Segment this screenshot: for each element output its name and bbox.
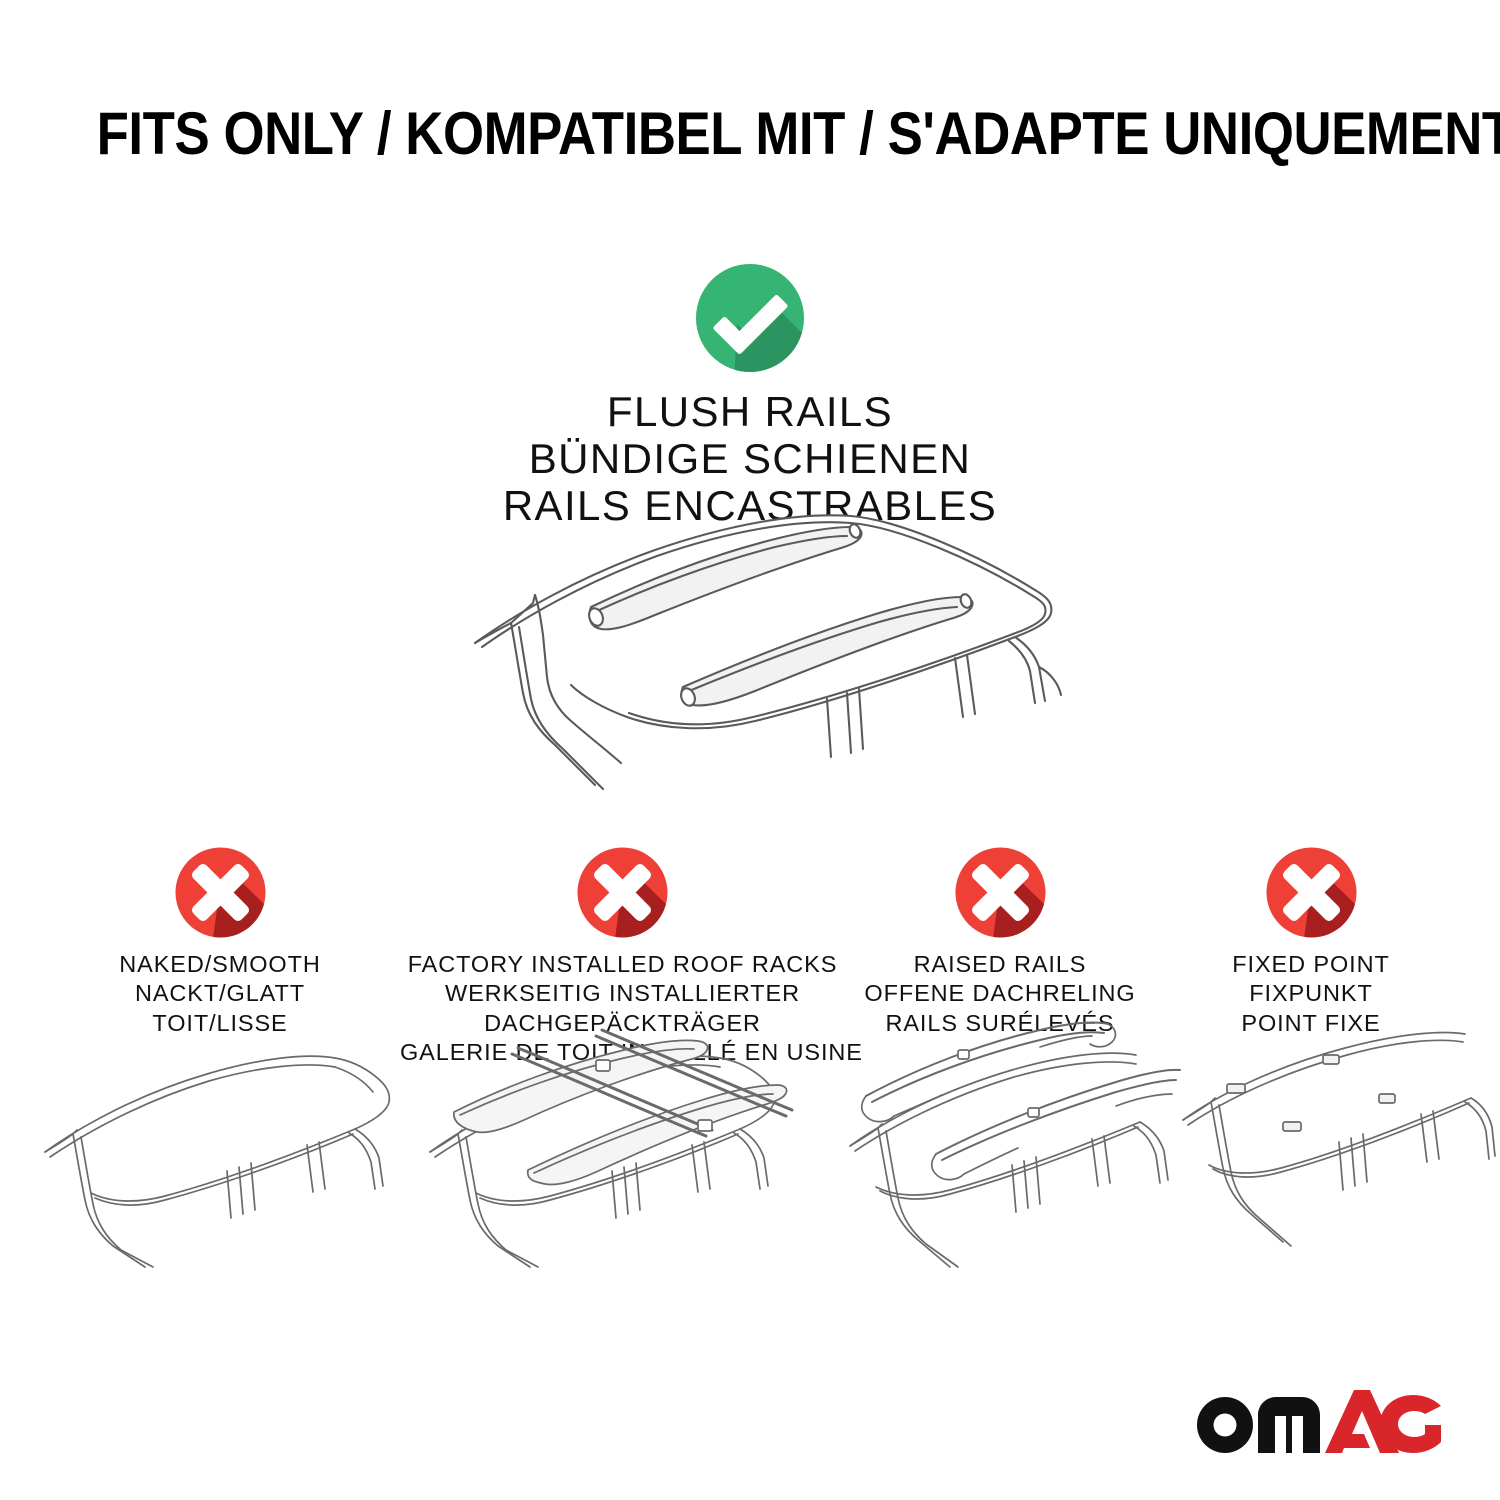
reject-label-line-en: RAISED RAILS <box>830 950 1170 979</box>
reject-label-line-de-2: DACHGEPÄCKTRÄGER <box>400 1009 845 1038</box>
car-roof-fixed-point-illustration <box>1175 1052 1447 1267</box>
reject-label-line-fr: RAILS SURÉLEVÉS <box>830 1009 1170 1038</box>
car-roof-bare-illustration <box>35 1052 405 1267</box>
reject-label-fixed-point: FIXED POINT FIXPUNKT POINT FIXE <box>1175 950 1447 1038</box>
reject-item-fixed-point: FIXED POINT FIXPUNKT POINT FIXE <box>1175 846 1447 1038</box>
reject-label-line-fr: TOIT/LISSE <box>35 1009 405 1038</box>
page-title: FITS ONLY / KOMPATIBEL MIT / S'ADAPTE UN… <box>0 104 1500 164</box>
reject-label-naked-smooth: NAKED/SMOOTH NACKT/GLATT TOIT/LISSE <box>35 950 405 1038</box>
omac-logo <box>1194 1384 1444 1456</box>
red-x-icon <box>576 846 669 939</box>
approved-label-line-en: FLUSH RAILS <box>0 388 1500 435</box>
page-title-text: FITS ONLY / KOMPATIBEL MIT / S'ADAPTE UN… <box>97 104 1500 164</box>
car-roof-raised-rails-illustration <box>830 1052 1170 1267</box>
approved-label-line-de: BÜNDIGE SCHIENEN <box>0 435 1500 482</box>
reject-label-line-de-1: WERKSEITIG INSTALLIERTER <box>400 979 845 1008</box>
not-compatible-section: NAKED/SMOOTH NACKT/GLATT TOIT/LISSE <box>0 846 1500 1406</box>
green-check-icon <box>694 262 806 374</box>
reject-label-raised-rails: RAISED RAILS OFFENE DACHRELING RAILS SUR… <box>830 950 1170 1038</box>
reject-label-line-en: FIXED POINT <box>1175 950 1447 979</box>
red-x-icon <box>1265 846 1358 939</box>
car-roof-flush-rails-illustration <box>455 495 1075 815</box>
red-x-icon <box>174 846 267 939</box>
reject-label-line-de: FIXPUNKT <box>1175 979 1447 1008</box>
car-roof-crossbars-illustration <box>400 1052 845 1267</box>
reject-label-line-de: OFFENE DACHRELING <box>830 979 1170 1008</box>
reject-item-factory-roof-racks: FACTORY INSTALLED ROOF RACKS WERKSEITIG … <box>400 846 845 1068</box>
reject-item-raised-rails: RAISED RAILS OFFENE DACHRELING RAILS SUR… <box>830 846 1170 1038</box>
red-x-icon <box>954 846 1047 939</box>
reject-label-line-de: NACKT/GLATT <box>35 979 405 1008</box>
approved-section: FLUSH RAILS BÜNDIGE SCHIENEN RAILS ENCAS… <box>0 262 1500 529</box>
reject-item-naked-smooth: NAKED/SMOOTH NACKT/GLATT TOIT/LISSE <box>35 846 405 1038</box>
reject-label-line-fr: POINT FIXE <box>1175 1009 1447 1038</box>
reject-label-line-en: NAKED/SMOOTH <box>35 950 405 979</box>
reject-label-line-en: FACTORY INSTALLED ROOF RACKS <box>400 950 845 979</box>
